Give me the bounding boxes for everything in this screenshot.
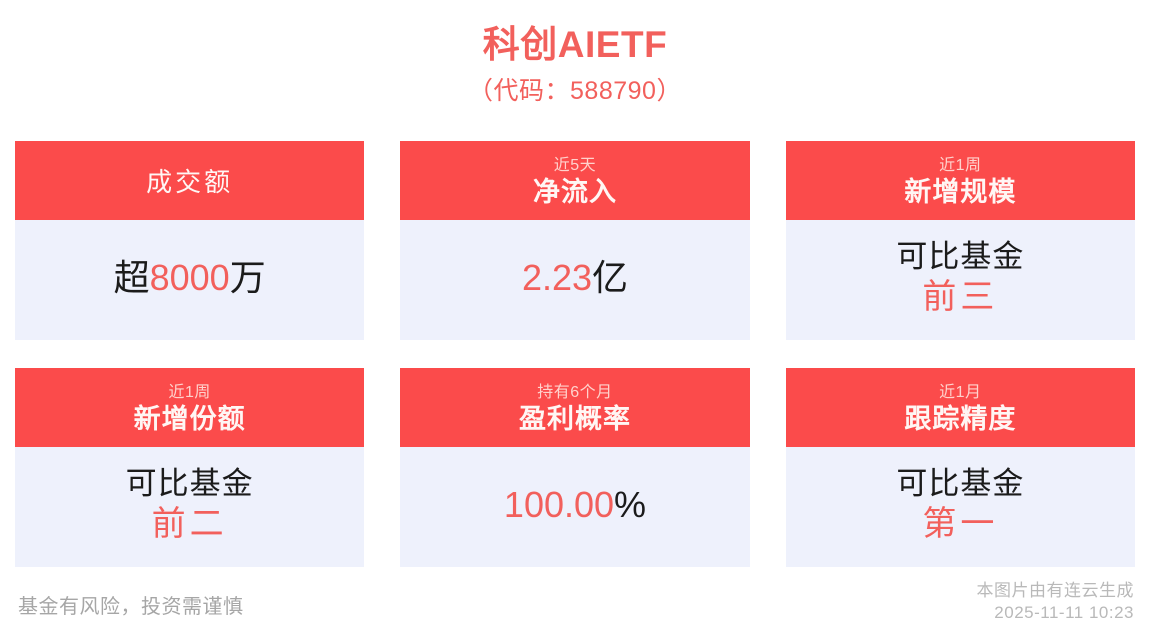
fund-code-label: （代码：588790）	[0, 74, 1150, 108]
fund-metrics-poster: 科创AIETF （代码：588790） 成交额 超8000万 近5天 净流入 2…	[0, 0, 1150, 632]
page-title: 科创AIETF	[0, 22, 1150, 68]
metric-value-highlight: 2.23	[522, 257, 592, 298]
metric-card-body: 可比基金 第一	[786, 447, 1135, 567]
metric-card-body: 可比基金 前三	[786, 220, 1135, 340]
metric-card-body: 超8000万	[15, 220, 364, 340]
title-block: 科创AIETF （代码：588790）	[0, 0, 1150, 108]
metric-value-unit: 亿	[592, 257, 628, 298]
metric-card-subtitle: 近1周	[939, 156, 981, 176]
metric-card[interactable]: 成交额 超8000万	[15, 141, 364, 340]
generated-timestamp: 2025-11-11 10:23	[977, 602, 1135, 624]
metric-card-grid: 成交额 超8000万 近5天 净流入 2.23亿 近1周 新增规模 可比基金	[15, 141, 1135, 567]
metric-card-body: 2.23亿	[400, 220, 749, 340]
metric-value-line-1: 可比基金	[896, 238, 1024, 276]
metric-card-body: 可比基金 前二	[15, 447, 364, 567]
footer: 基金有风险，投资需谨慎 本图片由有连云生成 2025-11-11 10:23	[0, 572, 1150, 632]
metric-card[interactable]: 近1周 新增份额 可比基金 前二	[15, 368, 364, 567]
metric-card-header: 近5天 净流入	[400, 141, 749, 220]
metric-card[interactable]: 持有6个月 盈利概率 100.00%	[400, 368, 749, 567]
metric-card-title: 新增规模	[904, 176, 1016, 208]
metric-card[interactable]: 近1月 跟踪精度 可比基金 第一	[786, 368, 1135, 567]
metric-value: 超8000万	[114, 256, 266, 300]
metric-card-subtitle: 持有6个月	[537, 383, 612, 403]
metric-value: 2.23亿	[522, 256, 628, 300]
metric-card-body: 100.00%	[400, 447, 749, 567]
metric-value: 100.00%	[504, 483, 646, 527]
metric-card[interactable]: 近1周 新增规模 可比基金 前三	[786, 141, 1135, 340]
metric-card-header: 近1月 跟踪精度	[786, 368, 1135, 447]
metric-card-subtitle: 近5天	[554, 156, 596, 176]
risk-disclaimer: 基金有风险，投资需谨慎	[18, 594, 244, 624]
metric-value-unit: 万	[230, 257, 266, 298]
metric-card[interactable]: 近5天 净流入 2.23亿	[400, 141, 749, 340]
metric-value-line-1: 可比基金	[896, 465, 1024, 503]
metric-card-header: 成交额	[15, 141, 364, 220]
metric-card-header: 近1周 新增规模	[786, 141, 1135, 220]
metric-card-header: 近1周 新增份额	[15, 368, 364, 447]
generation-info: 本图片由有连云生成 2025-11-11 10:23	[977, 580, 1135, 624]
metric-value-highlight: 100.00	[504, 484, 614, 525]
metric-card-title: 跟踪精度	[904, 403, 1016, 435]
metric-value-line-2: 第一	[922, 503, 998, 545]
metric-card-title: 成交额	[146, 166, 233, 198]
metric-value-highlight: 8000	[150, 257, 230, 298]
metric-value-unit: %	[614, 484, 646, 525]
metric-value-line-1: 可比基金	[126, 465, 254, 503]
metric-value-line-2: 前三	[922, 276, 998, 318]
generated-by-label: 本图片由有连云生成	[977, 580, 1135, 602]
metric-card-title: 净流入	[533, 176, 617, 208]
metric-card-subtitle: 近1月	[939, 383, 981, 403]
metric-card-title: 盈利概率	[519, 403, 631, 435]
metric-value-line-2: 前二	[152, 503, 228, 545]
metric-card-subtitle: 近1周	[168, 383, 210, 403]
metric-card-header: 持有6个月 盈利概率	[400, 368, 749, 447]
metric-card-title: 新增份额	[134, 403, 246, 435]
metric-value-prefix: 超	[114, 257, 150, 298]
